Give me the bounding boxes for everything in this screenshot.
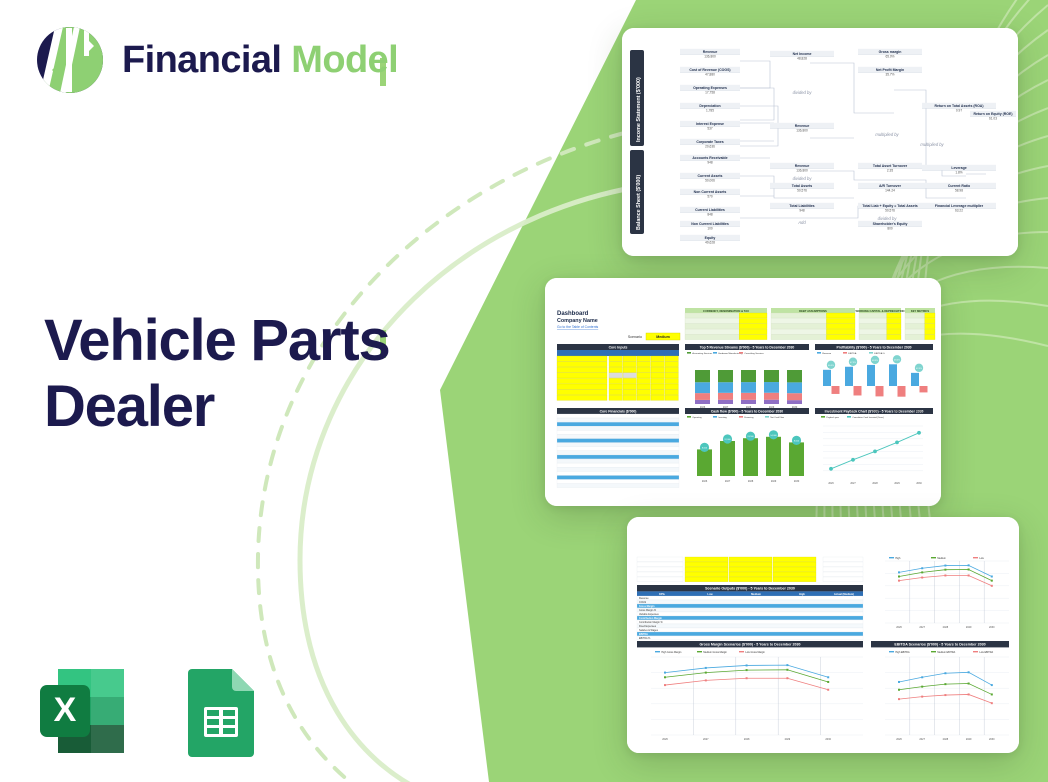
dupont-node-value: 17,758 [705, 91, 715, 95]
dupont-node-label: Total Asset Turnover [873, 164, 908, 168]
scenario-input-value[interactable] [729, 567, 772, 572]
assumption-row-value[interactable] [739, 324, 767, 329]
scenario-table-row [637, 628, 863, 632]
chart-x-tick: 2028 [748, 480, 754, 483]
scenario-input-value[interactable] [685, 557, 728, 562]
core-financials-row [557, 451, 679, 455]
core-inputs-subheader [557, 350, 679, 356]
dupont-node-value: 1.8% [955, 171, 962, 175]
dupont-node-label: Equity [705, 236, 716, 240]
dupont-node-value: 2.35 [887, 169, 893, 173]
core-financials-row [557, 471, 679, 475]
cashflow-value: 14,000 [770, 435, 777, 437]
scenario-table-row [637, 596, 863, 600]
core-financials-row [557, 439, 679, 443]
dupont-operator: divided by [793, 90, 813, 95]
stacked-bar-segment [718, 393, 733, 400]
assumption-row-label [685, 324, 739, 329]
core-inputs-cell[interactable] [637, 362, 650, 367]
chart-legend-label: Low [979, 557, 984, 560]
chart-legend-swatch [973, 557, 978, 558]
core-inputs-cell[interactable] [557, 390, 607, 395]
stacked-bar-segment [741, 382, 756, 393]
dupont-node-value: 48,828 [797, 57, 807, 61]
core-financials-row [557, 467, 679, 471]
google-sheets-icon[interactable] [172, 663, 268, 759]
chart-x-tick: 2027 [850, 482, 856, 485]
core-inputs-cell[interactable] [609, 390, 622, 395]
core-inputs-cell[interactable] [637, 390, 650, 395]
chart-legend-label: High [895, 557, 901, 560]
core-inputs-cell[interactable] [557, 378, 607, 383]
assumption-row-value[interactable] [887, 329, 901, 334]
stacked-bar-segment [718, 400, 733, 404]
scenario-table-row [637, 608, 863, 612]
core-financials-row [557, 455, 679, 459]
core-inputs-cell[interactable] [651, 362, 664, 367]
assumption-row-label [685, 335, 739, 340]
chart-x-tick: 2027 [703, 738, 709, 741]
core-inputs-cell[interactable] [665, 384, 678, 389]
cashflow-bar [766, 437, 781, 476]
assumption-row-value[interactable] [739, 329, 767, 334]
cashflow-value: 8,500 [794, 440, 800, 442]
stacked-bar-segment [718, 370, 733, 382]
chart-x-tick: 2026 [828, 410, 834, 413]
assumption-row-value[interactable] [925, 329, 935, 334]
scenario-row-label: Salaries & Wages [639, 629, 659, 632]
core-inputs-cell[interactable] [609, 395, 622, 400]
assumption-row-value[interactable] [826, 318, 855, 323]
core-inputs-cell[interactable] [557, 362, 607, 367]
scenario-input-value[interactable] [773, 572, 816, 577]
core-inputs-cell[interactable] [665, 367, 678, 372]
scenario-input-value[interactable] [685, 577, 728, 582]
dupont-node-value: 49,628 [705, 241, 715, 245]
scenario-input-value[interactable] [685, 572, 728, 577]
dupont-diagram: Income Statement ($'000) Balance Sheet (… [622, 28, 1018, 256]
assumption-row-value[interactable] [925, 313, 935, 318]
dashboard-screenshot[interactable]: Dashboard Company Name Go to the Table o… [545, 278, 941, 506]
scenario-input-value[interactable] [685, 567, 728, 572]
chart-legend-swatch [713, 416, 717, 418]
dupont-node-value: 144.24 [885, 189, 895, 193]
stacked-bar-segment [718, 382, 733, 393]
chart-legend-swatch [843, 352, 847, 354]
chart-legend-label: Accounting Services [692, 352, 713, 355]
core-inputs-cell[interactable] [557, 356, 607, 361]
dupont-node-label: Revenue [795, 164, 810, 168]
profitability-revenue-bar [823, 370, 831, 386]
assumption-row-value[interactable] [887, 335, 901, 340]
scenario-actual-value [823, 557, 863, 562]
cashflow-value: 12,000 [724, 439, 731, 441]
chart-x-tick: 2027 [850, 410, 856, 413]
core-inputs-cell[interactable] [651, 356, 664, 361]
core-inputs-cell[interactable] [665, 390, 678, 395]
profitability-header-label: Profitability ($'000) - 5 Years to Decem… [837, 345, 912, 349]
scenario-input-value[interactable] [773, 562, 816, 567]
dupont-node-label: Total Liabilities [789, 204, 814, 208]
chart-legend-swatch [931, 557, 936, 558]
chart-x-tick: 2026 [828, 482, 834, 485]
assumption-row-label [905, 329, 925, 334]
chart-x-tick: 2030 [794, 480, 800, 483]
dupont-node-label: Gross margin [879, 50, 902, 54]
core-financials-row [557, 484, 679, 488]
dupont-node-value: 537 [707, 127, 713, 131]
chart-legend-label: Medium Gross Margin [703, 651, 727, 654]
core-financials-row [557, 480, 679, 484]
profitability-ebitda-bar [898, 386, 906, 397]
assumption-row-value[interactable] [925, 318, 935, 323]
chart-x-tick: 2030 [916, 410, 922, 413]
assumption-row-label [685, 313, 739, 318]
core-inputs-cell[interactable] [637, 395, 650, 400]
dupont-node-value: 35.7% [885, 73, 894, 77]
gross-margin-header-label: Gross Margin Scenarios ($'000) - 5 Years… [699, 643, 800, 647]
scenario-column-header: Actual (Medium) [834, 592, 854, 596]
core-financials-row [557, 476, 679, 480]
chart-x-tick: 2028 [872, 410, 878, 413]
core-inputs-cell[interactable] [637, 367, 650, 372]
core-inputs-cell[interactable] [557, 395, 607, 400]
core-inputs-cell[interactable] [609, 384, 622, 389]
chart-legend-swatch [655, 651, 660, 652]
scenario-column-header: Medium [751, 592, 761, 596]
dupont-operator: Add [797, 220, 806, 225]
core-inputs-cell[interactable] [637, 378, 650, 383]
scenario-table-row [637, 620, 863, 624]
chart-legend-label: Financing [744, 417, 754, 419]
dupont-node-value: 570 [707, 195, 713, 199]
scenario-input-value[interactable] [773, 577, 816, 582]
core-inputs-cell[interactable] [623, 395, 636, 400]
payback-point [829, 467, 833, 471]
core-inputs-cell[interactable] [609, 378, 622, 383]
microsoft-excel-icon[interactable]: X [34, 663, 130, 759]
chart-legend-label: Payback year [826, 416, 839, 419]
ebitda-header-label: EBITDA Scenarios ($'000) - 5 Years to De… [894, 643, 985, 647]
dupont-node-label: Non Current Liabilities [691, 222, 729, 226]
core-inputs-cell[interactable] [623, 362, 636, 367]
scenario-row-label: Variable Expenses [639, 613, 660, 616]
assumption-row-value[interactable] [739, 313, 767, 318]
scenario-input-value[interactable] [773, 567, 816, 572]
assumption-panel-title: DEBT ASSUMPTIONS [799, 309, 827, 313]
chart-legend-swatch [739, 416, 743, 418]
core-inputs-cell[interactable] [623, 356, 636, 361]
dupont-node-label: Current Assets [698, 174, 723, 178]
core-inputs-cell[interactable] [609, 373, 622, 378]
core-inputs-cell[interactable] [609, 356, 622, 361]
assumption-row-value[interactable] [826, 313, 855, 318]
profitability-ebitda-bar [920, 386, 928, 392]
core-financials-header-label: Core Financials ($'000) [600, 409, 637, 413]
scenario-table-row [637, 636, 863, 640]
assumption-row-label [685, 329, 739, 334]
scenario-input-value[interactable] [729, 562, 772, 567]
scenario-actual-value [823, 567, 863, 572]
assumption-row-label [771, 335, 826, 340]
dupont-operator: divided by [793, 176, 813, 181]
core-inputs-cell[interactable] [557, 373, 607, 378]
revenue-streams-header-label: Top 5 Revenue Streams ($'000) - 5 Years … [700, 345, 795, 349]
scenario-input-label [637, 572, 683, 577]
assumption-row-value[interactable] [826, 335, 855, 340]
dupont-operator: divided by [878, 216, 898, 221]
dupont-node-label: Cost of Revenue (COGS) [689, 68, 730, 72]
dupont-node-label: Net Profit Margin [876, 68, 904, 72]
dupont-node-value: 848 [707, 213, 713, 217]
dupont-node-value: 948 [799, 209, 805, 213]
dupont-node-value: 136,800 [796, 169, 808, 173]
assumption-row-value[interactable] [925, 335, 935, 340]
chart-legend-label: Cumulative Cash Invested (Years) [852, 416, 884, 419]
table-of-contents-link[interactable]: Go to the Table of Contents [557, 325, 599, 329]
cashflow-value: 8,500 [702, 447, 708, 449]
assumption-row-label [859, 313, 887, 318]
scenario-input-value[interactable] [729, 572, 772, 577]
profitability-ebitda-bar [876, 386, 884, 396]
dupont-analysis-screenshot[interactable]: Income Statement ($'000) Balance Sheet (… [622, 28, 1018, 256]
chart-x-tick: 2028 [943, 738, 949, 741]
core-inputs-cell[interactable] [623, 384, 636, 389]
chart-x-tick: 2026 [896, 738, 902, 741]
cashflow-value: 13,500 [747, 436, 754, 438]
chart-x-tick: 2028 [943, 626, 949, 629]
assumption-row-value[interactable] [887, 313, 901, 318]
core-inputs-cell[interactable] [637, 384, 650, 389]
chart-legend-swatch [889, 651, 894, 652]
assumption-row-value[interactable] [925, 324, 935, 329]
chart-legend-label: Medium [937, 557, 946, 560]
dupont-node-value: 61.03 [989, 117, 997, 121]
scenario-label: Scenario [628, 335, 642, 339]
brand-wordmark: Financial Model [122, 41, 398, 79]
dupont-node-label: Non Current Assets [694, 190, 727, 194]
dupont-node-label: Leverage [951, 166, 966, 170]
core-inputs-cell[interactable] [557, 367, 607, 372]
cashflow-bar [697, 449, 712, 476]
dupont-node-label: Accounts Receivable [692, 156, 727, 160]
chart-x-tick: 2028 [744, 738, 750, 741]
scenario-value: Medium [656, 335, 670, 339]
core-financials-row [557, 426, 679, 430]
chart-x-tick: 2026 [896, 626, 902, 629]
dupont-node-label: Revenue [703, 50, 718, 54]
stacked-bar-segment [695, 393, 710, 400]
ebitda-pct-value: 46.5% [828, 365, 834, 367]
stacked-bar-segment [787, 382, 802, 393]
core-financials-row [557, 447, 679, 451]
core-inputs-cell[interactable] [609, 362, 622, 367]
dupont-node-value: 63.22 [955, 209, 963, 213]
core-financials-row [557, 443, 679, 447]
scenario-content: Scenario Outputs ($'000) - 5 Years to De… [627, 517, 1019, 753]
chart-legend-swatch [847, 416, 851, 418]
stacked-bar-segment [695, 400, 710, 404]
assumption-row-label [771, 324, 826, 329]
core-inputs-cell[interactable] [623, 378, 636, 383]
chart-legend-label: Operating [692, 416, 702, 419]
core-inputs-cell[interactable] [623, 373, 636, 378]
core-inputs-cell[interactable] [665, 395, 678, 400]
dashboard-content: Dashboard Company Name Go to the Table o… [545, 278, 941, 506]
chart-legend-swatch [817, 352, 821, 354]
scenario-table-row [637, 632, 863, 636]
chart-x-tick: 2027 [919, 738, 925, 741]
stacked-bar-segment [764, 393, 779, 400]
core-inputs-cell[interactable] [651, 390, 664, 395]
svg-text:X: X [54, 691, 77, 729]
assumption-row-value[interactable] [887, 318, 901, 323]
chart-x-tick: 2026 [700, 406, 706, 409]
core-financials-row [557, 414, 679, 418]
assumption-row-value[interactable] [826, 324, 855, 329]
core-inputs-cell[interactable] [651, 367, 664, 372]
dupont-node-label: Return on Total Assets (ROA) [934, 104, 983, 108]
chart-x-tick: 2029 [769, 406, 775, 409]
dupont-node-value: 1,785 [706, 109, 714, 113]
chart-legend-swatch [869, 352, 873, 354]
profitability-revenue-bar [911, 373, 919, 386]
dupont-node-value: 136,800 [796, 129, 808, 133]
core-inputs-cell[interactable] [637, 373, 650, 378]
chart-x-tick: 2026 [702, 480, 708, 483]
core-inputs-cell[interactable] [665, 373, 678, 378]
dupont-operator: multiplied by [875, 132, 899, 137]
assumption-row-value[interactable] [887, 324, 901, 329]
stacked-bar-segment [741, 370, 756, 382]
scenario-input-label [637, 577, 683, 582]
ebitda-pct-value: 48.0% [894, 359, 900, 361]
assumption-row-label [771, 318, 826, 323]
brand-lockup: Financial Model [32, 24, 398, 96]
chart-legend-swatch [739, 352, 743, 354]
scenario-row-label: Gross Margin % [639, 609, 657, 612]
core-inputs-cell[interactable] [557, 384, 607, 389]
dupont-node-value: 136,800 [704, 55, 716, 59]
chart-x-tick: 2028 [746, 406, 752, 409]
profitability-revenue-bar [867, 365, 875, 386]
assumption-row-label [859, 335, 887, 340]
core-financials-row [557, 459, 679, 463]
cashflow-bar [720, 441, 735, 476]
chart-legend-label: Net Cash Flow [770, 416, 784, 419]
chart-legend-swatch [821, 416, 825, 418]
chart-legend-swatch [739, 651, 744, 652]
core-inputs-cell[interactable] [609, 367, 622, 372]
chart-legend-label: Revenue [822, 353, 832, 355]
profitability-revenue-bar [845, 367, 853, 386]
file-format-icons: X [34, 663, 268, 759]
scenario-input-value[interactable] [685, 562, 728, 567]
core-inputs-cell[interactable] [651, 373, 664, 378]
ebitda-pct-value: 42.5% [916, 368, 922, 370]
core-inputs-cell[interactable] [637, 356, 650, 361]
chart-x-tick: 2029 [894, 482, 900, 485]
brand-word-model: Model [291, 39, 398, 81]
chart-legend-label: Investing [718, 416, 727, 419]
core-inputs-cell[interactable] [651, 384, 664, 389]
scenario-table-subheader [637, 591, 863, 596]
profitability-ebitda-bar [854, 386, 862, 395]
brand-word-financial: Financial [122, 39, 281, 81]
stacked-bar-segment [787, 370, 802, 382]
dupont-node-label: Interest Expense [696, 122, 724, 126]
dupont-node-label: Current Ratio [948, 184, 970, 188]
core-inputs-cell[interactable] [665, 362, 678, 367]
ebitda-pct-value: 48.5% [872, 360, 878, 362]
scenario-input-value[interactable] [729, 557, 772, 562]
chart-legend-swatch [713, 352, 717, 354]
dupont-node-label: Depreciation [699, 104, 720, 108]
chart-x-tick: 2027 [723, 406, 729, 409]
scenario-input-value[interactable] [773, 557, 816, 562]
scenario-row-label: Gross Margin [639, 605, 655, 608]
assumption-panel-title: WORKING CAPITAL & DEPRECIATION [856, 309, 905, 313]
scenario-row-label: EBITDA [639, 633, 648, 636]
stacked-bar-segment [695, 370, 710, 382]
dupont-node-label: Financial Leverage multiplier [935, 204, 984, 208]
assumption-row-value[interactable] [739, 335, 767, 340]
scenario-actual-value [823, 577, 863, 582]
chart-legend-label: Medium EBITDA [937, 651, 955, 654]
dupont-node-value: 58.98 [955, 189, 963, 193]
scenario-table-row [637, 624, 863, 628]
chart-legend-swatch [697, 651, 702, 652]
core-inputs-cell[interactable] [651, 395, 664, 400]
chart-x-tick: 2029 [966, 738, 972, 741]
assumption-panel-title: KEY METRICS [911, 309, 930, 313]
dupont-node-label: Operating Expenses [693, 86, 727, 90]
balance-sheet-label: Balance Sheet ($'000) [636, 175, 642, 230]
assumption-row-value[interactable] [826, 329, 855, 334]
core-inputs-cell[interactable] [623, 390, 636, 395]
dupont-node-label: Net Income [793, 52, 812, 56]
dupont-operator: multiplied by [920, 142, 944, 147]
core-inputs-cell[interactable] [665, 378, 678, 383]
core-inputs-cell[interactable] [665, 356, 678, 361]
scenario-analysis-screenshot[interactable]: Scenario Outputs ($'000) - 5 Years to De… [627, 517, 1019, 753]
scenario-actual-value [823, 572, 863, 577]
chart-legend-label: Low Gross Margin [745, 651, 765, 654]
scenario-row-label: EBITDA % [639, 637, 651, 640]
core-inputs-cell[interactable] [623, 367, 636, 372]
chart-legend-label: High Gross Margin [661, 651, 682, 654]
assumption-row-value[interactable] [739, 318, 767, 323]
scenario-table-row [637, 604, 863, 608]
chart-x-tick: 2029 [966, 626, 972, 629]
profitability-revenue-bar [889, 364, 897, 386]
dupont-node-value: 0.97 [956, 109, 962, 113]
chart-legend-label: Low EBITDA [979, 651, 993, 654]
assumption-row-label [859, 318, 887, 323]
financial-model-circle-logo [32, 24, 108, 96]
core-financials-row [557, 430, 679, 434]
chart-x-tick: 2029 [894, 410, 900, 413]
scenario-input-value[interactable] [729, 577, 772, 582]
stacked-bar-segment [764, 400, 779, 404]
core-inputs-cell[interactable] [651, 378, 664, 383]
scenario-input-label [637, 562, 683, 567]
scenario-outputs-header-label: Scenario Outputs ($'000) - 5 Years to De… [705, 587, 795, 591]
dupont-node-value: 50,576 [797, 189, 807, 193]
dashboard-subtitle: Company Name [557, 318, 598, 324]
assumption-row-label [905, 335, 925, 340]
dupont-node-value: 20,636 [705, 145, 715, 149]
